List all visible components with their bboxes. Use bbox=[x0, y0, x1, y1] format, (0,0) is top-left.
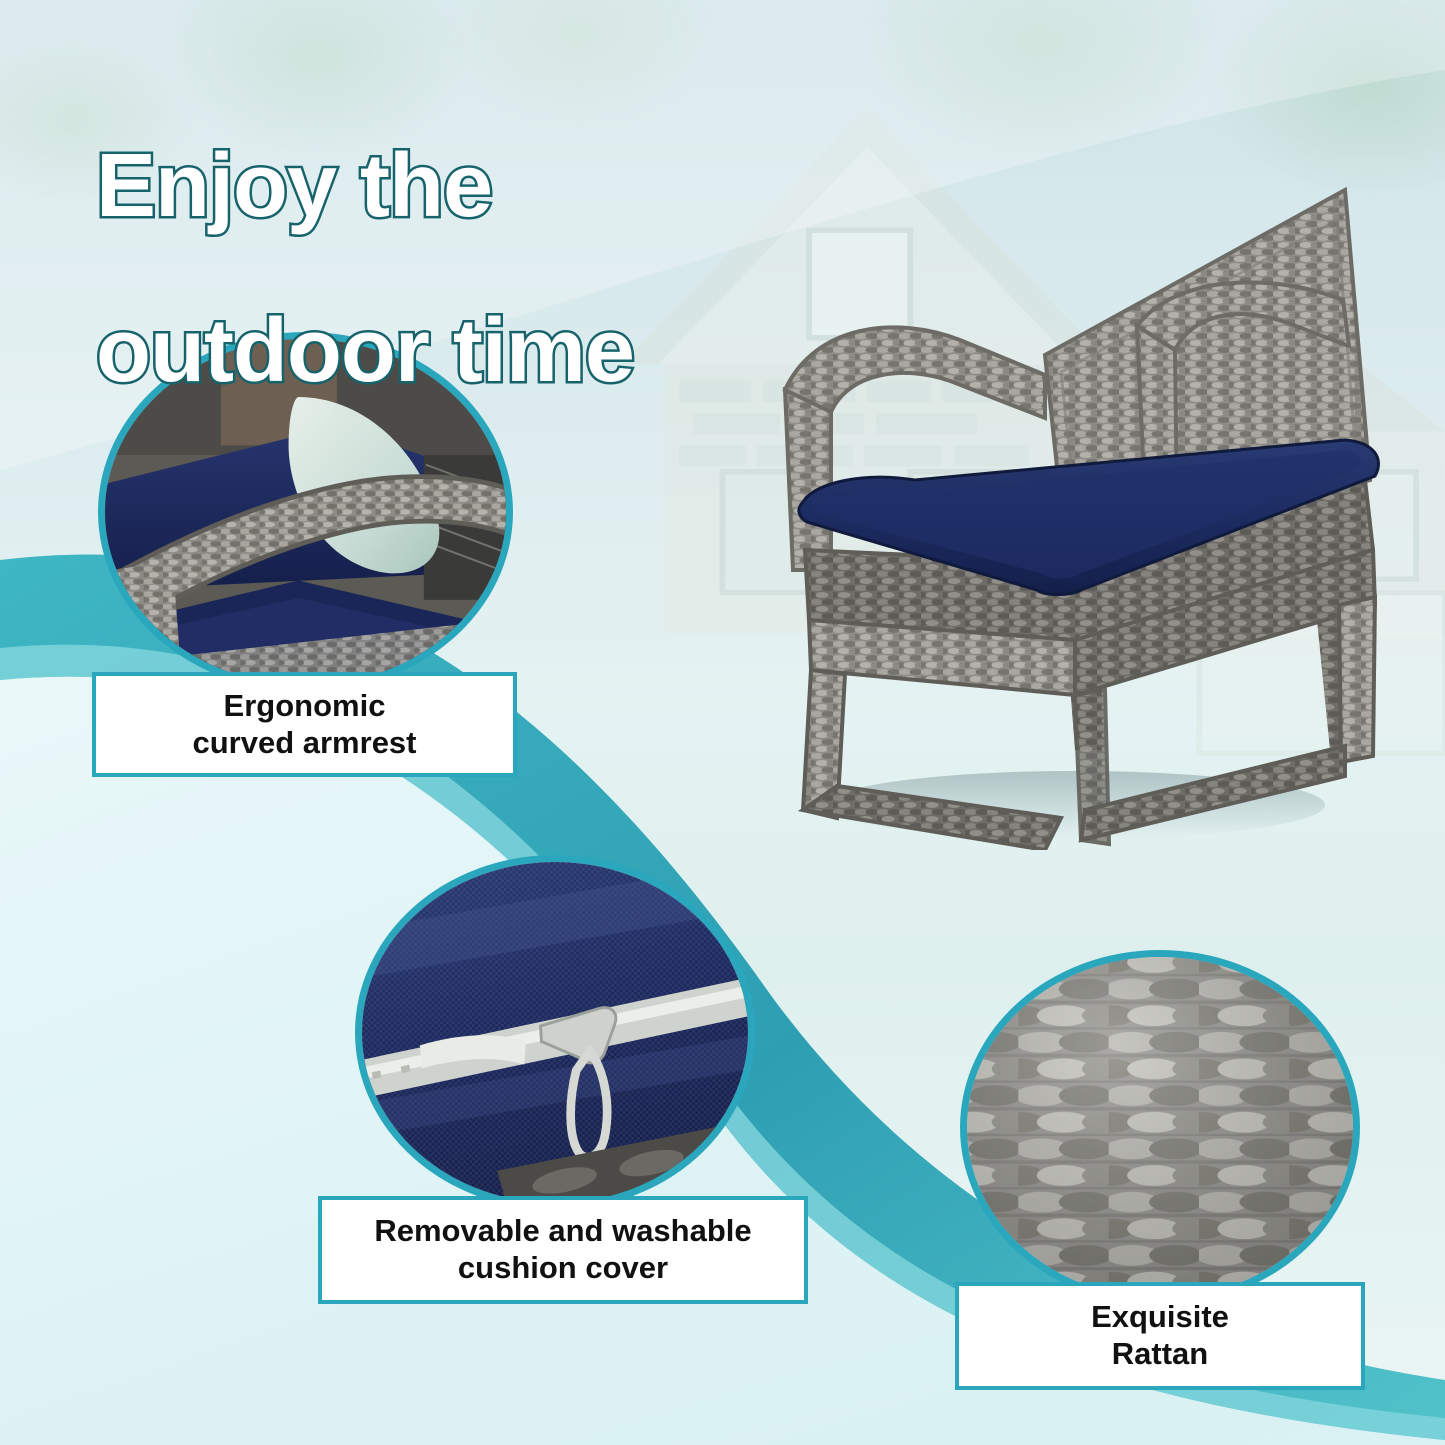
chair-illustration bbox=[745, 150, 1405, 850]
page-title: Enjoy the outdoor time bbox=[96, 62, 634, 476]
rattan-texture bbox=[960, 950, 1360, 1305]
zipper-photo bbox=[362, 862, 748, 1205]
title-line-2: outdoor time bbox=[96, 310, 634, 393]
callout-image-exquisite-rattan bbox=[960, 950, 1360, 1305]
title-line-1: Enjoy the bbox=[96, 145, 634, 228]
callout-image-washable-cover bbox=[355, 855, 755, 1210]
callout-label-ergonomic-armrest: Ergonomic curved armrest bbox=[92, 672, 517, 777]
product-image-chair bbox=[745, 150, 1405, 850]
product-poster: Ergonomic curved armrest bbox=[0, 0, 1445, 1445]
callout-label-exquisite-rattan: Exquisite Rattan bbox=[955, 1282, 1365, 1390]
callout-label-washable-cover: Removable and washable cushion cover bbox=[318, 1196, 808, 1304]
